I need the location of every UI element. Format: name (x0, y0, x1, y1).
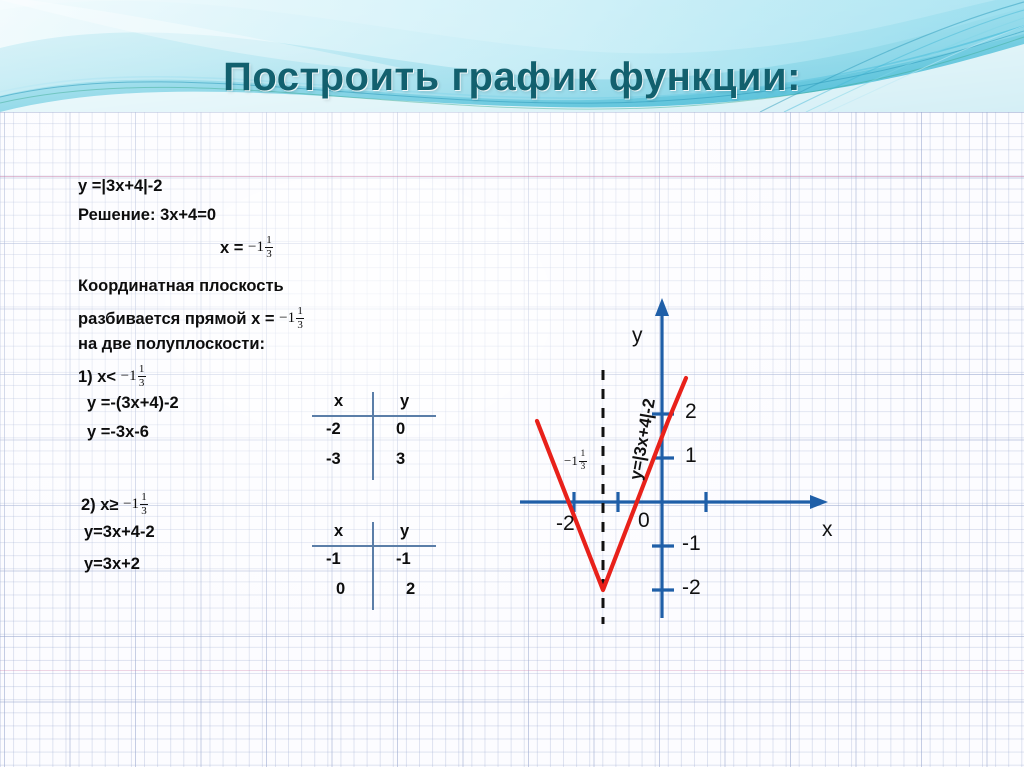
y-axis-label: y (632, 324, 643, 348)
table-header-row: х у (312, 392, 440, 416)
fraction-stack: 13 (140, 492, 148, 517)
solution-line-x-equals: x = −113 (220, 236, 273, 261)
tick-label-zero: 0 (638, 509, 650, 533)
tick-label-x-neg-2: -2 (556, 512, 575, 536)
coordinate-plane-2-label: разбивается прямой х = (78, 310, 279, 328)
solution-line-coordinate-plane-2: разбивается прямой х = −113 (78, 307, 304, 332)
table-header-x: х (334, 522, 343, 541)
solution-line-reshenie: Решение: 3x+4=0 (78, 207, 216, 224)
mixed-fraction-one-third: −113 (564, 450, 587, 472)
tick-label-y-neg-2: -2 (682, 576, 701, 600)
table-case-2: х у -1 -1 0 2 (312, 522, 440, 606)
fraction-sign-whole: −1 (248, 240, 264, 255)
mixed-fraction-one-third: −113 (123, 492, 148, 517)
slide-root: Построить график функции: y =|3x+4|-2 Ре… (0, 0, 1024, 767)
table-cell-x: -1 (326, 550, 341, 569)
table-header-y: у (400, 392, 409, 411)
x-axis-arrow-icon (810, 495, 828, 509)
table-row: -2 0 (312, 416, 440, 446)
table-header-row: х у (312, 522, 440, 546)
fraction-numerator: 1 (579, 450, 586, 460)
fraction-numerator: 1 (138, 364, 146, 375)
tick-label-y-1: 1 (685, 444, 697, 468)
fraction-denominator: 3 (138, 378, 146, 389)
curve-absolute-value (537, 378, 686, 590)
fraction-numerator: 1 (296, 306, 304, 317)
solution-line-half-planes: на две полуплоскости: (78, 336, 265, 353)
solution-line-case-2-eq-1: у=3х+4-2 (84, 524, 155, 541)
mixed-fraction-one-third: −113 (279, 306, 304, 331)
x-axis-label: x (822, 518, 833, 542)
fraction-denominator: 3 (140, 506, 148, 517)
function-graph: y x 0 2 1 -1 -2 -2 y=|3x+4|-2 −113 (512, 296, 892, 626)
solution-line-equation: y =|3x+4|-2 (78, 178, 162, 195)
table-row: -1 -1 (312, 546, 440, 576)
page-title: Построить график функции: (0, 55, 1024, 100)
fraction-denominator: 3 (265, 249, 273, 260)
mixed-fraction-one-third: −113 (248, 235, 273, 260)
table-case-1: х у -2 0 -3 3 (312, 392, 440, 476)
table-cell-x: 0 (336, 580, 345, 599)
table-cell-y: 3 (396, 450, 405, 469)
fraction-numerator: 1 (140, 492, 148, 503)
tick-label-y-2: 2 (685, 400, 697, 424)
fraction-denominator: 3 (296, 320, 304, 331)
fraction-stack: 13 (579, 450, 587, 472)
solution-line-coordinate-plane-1: Координатная плоскость (78, 278, 284, 295)
table-cell-y: 0 (396, 420, 405, 439)
solution-line-case-2: 2) х≥ −113 (81, 493, 148, 518)
table-cell-y: 2 (406, 580, 415, 599)
fraction-sign-whole: −1 (121, 369, 137, 384)
table-cell-x: -3 (326, 450, 341, 469)
fraction-denominator: 3 (579, 463, 586, 473)
fraction-sign-whole: −1 (123, 497, 139, 512)
table-cell-x: -2 (326, 420, 341, 439)
fraction-stack: 13 (265, 235, 273, 260)
table-row: -3 3 (312, 446, 440, 476)
fraction-numerator: 1 (265, 235, 273, 246)
case-1-label: 1) х< (78, 368, 121, 386)
solution-line-case-1-eq-2: у =-3х-6 (87, 424, 149, 441)
header-banner: Построить график функции: (0, 0, 1024, 112)
solution-line-case-2-eq-2: у=3х+2 (84, 556, 140, 573)
fraction-stack: 13 (296, 306, 304, 331)
pink-ruled-line-bottom (0, 670, 1024, 671)
x-equals-label: x = (220, 239, 248, 257)
fraction-sign-whole: −1 (564, 453, 578, 469)
fraction-sign-whole: −1 (279, 311, 295, 326)
dashed-line-value-label: −113 (564, 451, 587, 473)
table-cell-y: -1 (396, 550, 411, 569)
table-row: 0 2 (312, 576, 440, 606)
tick-label-y-neg-1: -1 (682, 532, 701, 556)
case-2-label: 2) х≥ (81, 496, 123, 514)
mixed-fraction-one-third: −113 (121, 364, 146, 389)
table-header-y: у (400, 522, 409, 541)
y-axis-arrow-icon (655, 298, 669, 316)
solution-line-case-1-eq-1: у =-(3х+4)-2 (87, 395, 179, 412)
solution-line-case-1: 1) х< −113 (78, 365, 146, 390)
table-header-x: х (334, 392, 343, 411)
fraction-stack: 13 (138, 364, 146, 389)
